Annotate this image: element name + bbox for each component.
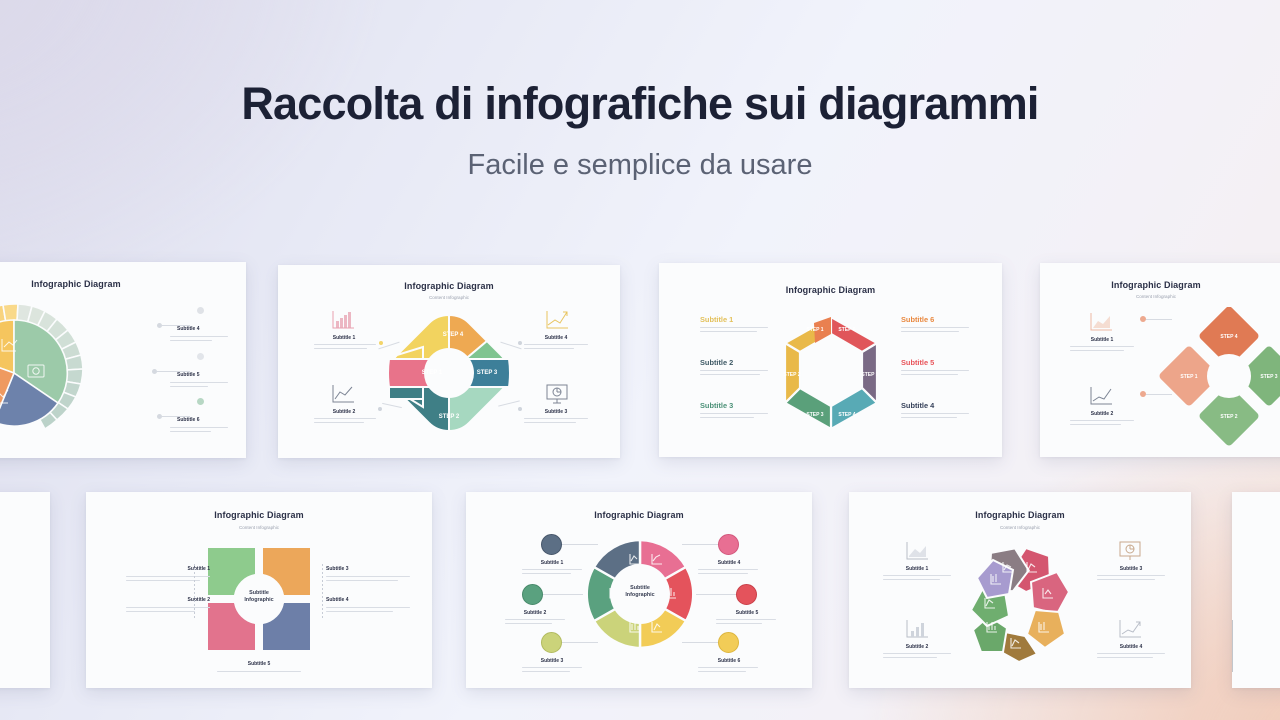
card-body-text [698,569,758,576]
card-label: Subtitle 1 [700,315,733,324]
card-label: Subtitle 5 [901,358,934,367]
icon-badge-4 [718,534,739,555]
card-body-text [314,418,376,425]
dot-matrix-graphic [1232,612,1280,682]
card-body-text [883,653,951,660]
center-label: SubtitleInfographic [227,590,291,605]
page-subtitle: Facile e semplice da usare [0,149,1280,182]
thumbnail-card-diamond-steps[interactable]: Infographic Diagram Content Infographic [278,265,620,458]
icon-badge-6 [718,632,739,653]
card-label: Subtitle 3 [521,658,583,664]
connector-node [518,407,522,411]
area-chart-icon [1088,311,1114,333]
card-body-text [1097,653,1165,660]
step-label-2: STEP 2 [1220,414,1237,420]
step-label-6: STEP 6 [838,327,855,333]
card-body-text [700,370,768,377]
radial-wheel-graphic [0,298,246,448]
card-label: Subtitle 4 [177,326,200,332]
connector-line [682,544,718,545]
step-label-1: STEP 1 [806,327,823,333]
card-body-text [700,327,768,334]
growth-chart-icon [544,309,570,331]
marker-icon [197,353,204,360]
card-subtitle: Content Infographic [278,295,620,300]
dotted-guide [194,564,195,618]
card-title: Infographic Diagram [86,510,432,520]
connector-line [1146,394,1172,395]
card-title: Infographic Diagram [849,510,1191,520]
card-label: Subtitle 2 [700,358,733,367]
card-label: Subtitle 6 [177,417,200,423]
card-body-text [524,418,588,425]
rhombus-steps-graphic: STEP 4 STEP 2 STEP 1 STEP 3 [1156,307,1280,447]
card-body-text [1097,575,1165,582]
icon-badge-2 [522,584,543,605]
card-label: Subtitle 1 [1072,337,1132,343]
page-header: Raccolta di infografiche sui diagrammi F… [0,0,1280,182]
connector-line [1146,319,1172,320]
card-label: Subtitle 5 [177,372,200,378]
bar-chart-icon [330,309,356,331]
step-label-1: STEP 1 [1180,374,1197,380]
card-body-text [505,619,565,626]
card-title: Infographic Diagram [278,281,620,291]
thumbnail-card-hexagon-steps[interactable]: Infographic Diagram [659,263,1002,457]
icon-badge-1 [541,534,562,555]
center-label: SubtitleInfographic [608,585,672,600]
card-label: Subtitle 5 [199,661,319,667]
bar-chart-icon [904,618,930,640]
connector-node [518,341,522,345]
thumbnail-card-radial-wheel[interactable]: Infographic Diagram [0,262,246,458]
connector-line [682,642,718,643]
card-empty-area [0,492,50,688]
card-label: Subtitle 1 [314,335,374,341]
connector-line [696,594,736,595]
card-body-text [170,427,228,434]
hexagon-steps-graphic: STEP 6 STEP 5 STEP 4 STEP 3 STEP 2 STEP … [769,311,893,435]
card-body-text [883,575,951,582]
card-label: Subtitle 5 [716,610,778,616]
icon-badge-3 [541,632,562,653]
card-body-text [170,382,228,389]
card-subtitle: Content Infographic [849,525,1191,530]
card-label: Subtitle 2 [150,597,210,603]
card-body-text [1070,346,1134,353]
card-label: Subtitle 3 [700,401,733,410]
step-label-4: STEP 4 [1220,334,1237,340]
card-label: Subtitle 2 [885,644,949,650]
card-body-text [217,671,301,675]
diamond-steps-graphic: STEP 1 STEP 2 STEP 3 STEP 4 [383,307,515,439]
connector-node [378,407,382,411]
thumbnail-card-petals[interactable]: Infographic Diagram Content Infographic [849,492,1191,688]
thumbnail-card-quadrant[interactable]: Infographic Diagram Content Infographic … [86,492,432,688]
step-label-3: STEP 3 [477,370,498,376]
card-body-text [126,576,210,583]
step-label-3: STEP 3 [806,412,823,418]
card-label: Subtitle 4 [326,597,349,603]
card-subtitle: Content Infographic [86,525,432,530]
page-title: Raccolta di infografiche sui diagrammi [0,80,1280,127]
card-title: Infographic Diagram [659,285,1002,295]
card-body-text [901,370,969,377]
area-chart-icon [904,540,930,562]
card-body-text [326,576,410,583]
step-label-3: STEP 3 [1260,374,1277,380]
marker-icon [197,307,204,314]
card-label: Subtitle 2 [504,610,566,616]
card-body-text [326,607,410,614]
thumbnail-card-partial-right[interactable] [1232,492,1280,688]
card-label: Subtitle 2 [314,409,374,415]
card-label: Subtitle 4 [901,401,934,410]
card-label: Subtitle 3 [326,566,349,572]
presentation-chart-icon [544,383,570,405]
thumbnail-card-blank-partial[interactable] [0,492,50,688]
card-body-text [170,336,228,343]
card-label: Subtitle 2 [1072,411,1132,417]
card-label: Subtitle 1 [885,566,949,572]
slide-canvas: Raccolta di infografiche sui diagrammi F… [0,0,1280,720]
card-body-text [522,569,582,576]
card-subtitle: Content Infographic [1040,294,1280,299]
connector-line [562,544,598,545]
icon-badge-5 [736,584,757,605]
marker-icon [197,398,204,405]
card-label: Subtitle 4 [1099,644,1163,650]
line-chart-icon [1088,385,1114,407]
card-label: Subtitle 1 [521,560,583,566]
line-chart-icon [330,383,356,405]
card-body-text [901,327,969,334]
growth-chart-icon [1117,618,1143,640]
card-body-text [901,413,969,420]
card-label: Subtitle 6 [901,315,934,324]
step-label-4: STEP 4 [838,412,855,418]
card-title: Infographic Diagram [0,279,246,289]
connector-line [543,594,583,595]
step-label-5: STEP 5 [861,372,878,378]
card-body-text [314,344,376,351]
card-body-text [126,607,210,614]
card-body-text [524,344,588,351]
card-label: Subtitle 3 [1099,566,1163,572]
card-body-text [522,667,582,674]
card-label: Subtitle 4 [526,335,586,341]
card-label: Subtitle 6 [698,658,760,664]
thumbnail-card-rhombus-steps[interactable]: Infographic Diagram Content Infographic … [1040,263,1280,457]
presentation-chart-icon [1117,540,1143,562]
thumbnail-card-donut[interactable]: Infographic Diagram [466,492,812,688]
petals-graphic [961,540,1083,662]
card-body-text [716,619,776,626]
step-label-2: STEP 2 [439,414,460,420]
card-label: Subtitle 1 [150,566,210,572]
card-title: Infographic Diagram [1040,280,1280,290]
connector-line [562,642,598,643]
card-body-text [1070,420,1134,427]
step-label-1: STEP 1 [422,370,443,376]
step-label-4: STEP 4 [443,332,464,338]
step-label-2: STEP 2 [783,372,800,378]
card-label: Subtitle 3 [526,409,586,415]
card-body-text [698,667,758,674]
card-body-text [700,413,768,420]
dotted-guide [322,564,323,618]
card-label: Subtitle 4 [698,560,760,566]
card-title: Infographic Diagram [466,510,812,520]
connector-node [379,341,383,345]
